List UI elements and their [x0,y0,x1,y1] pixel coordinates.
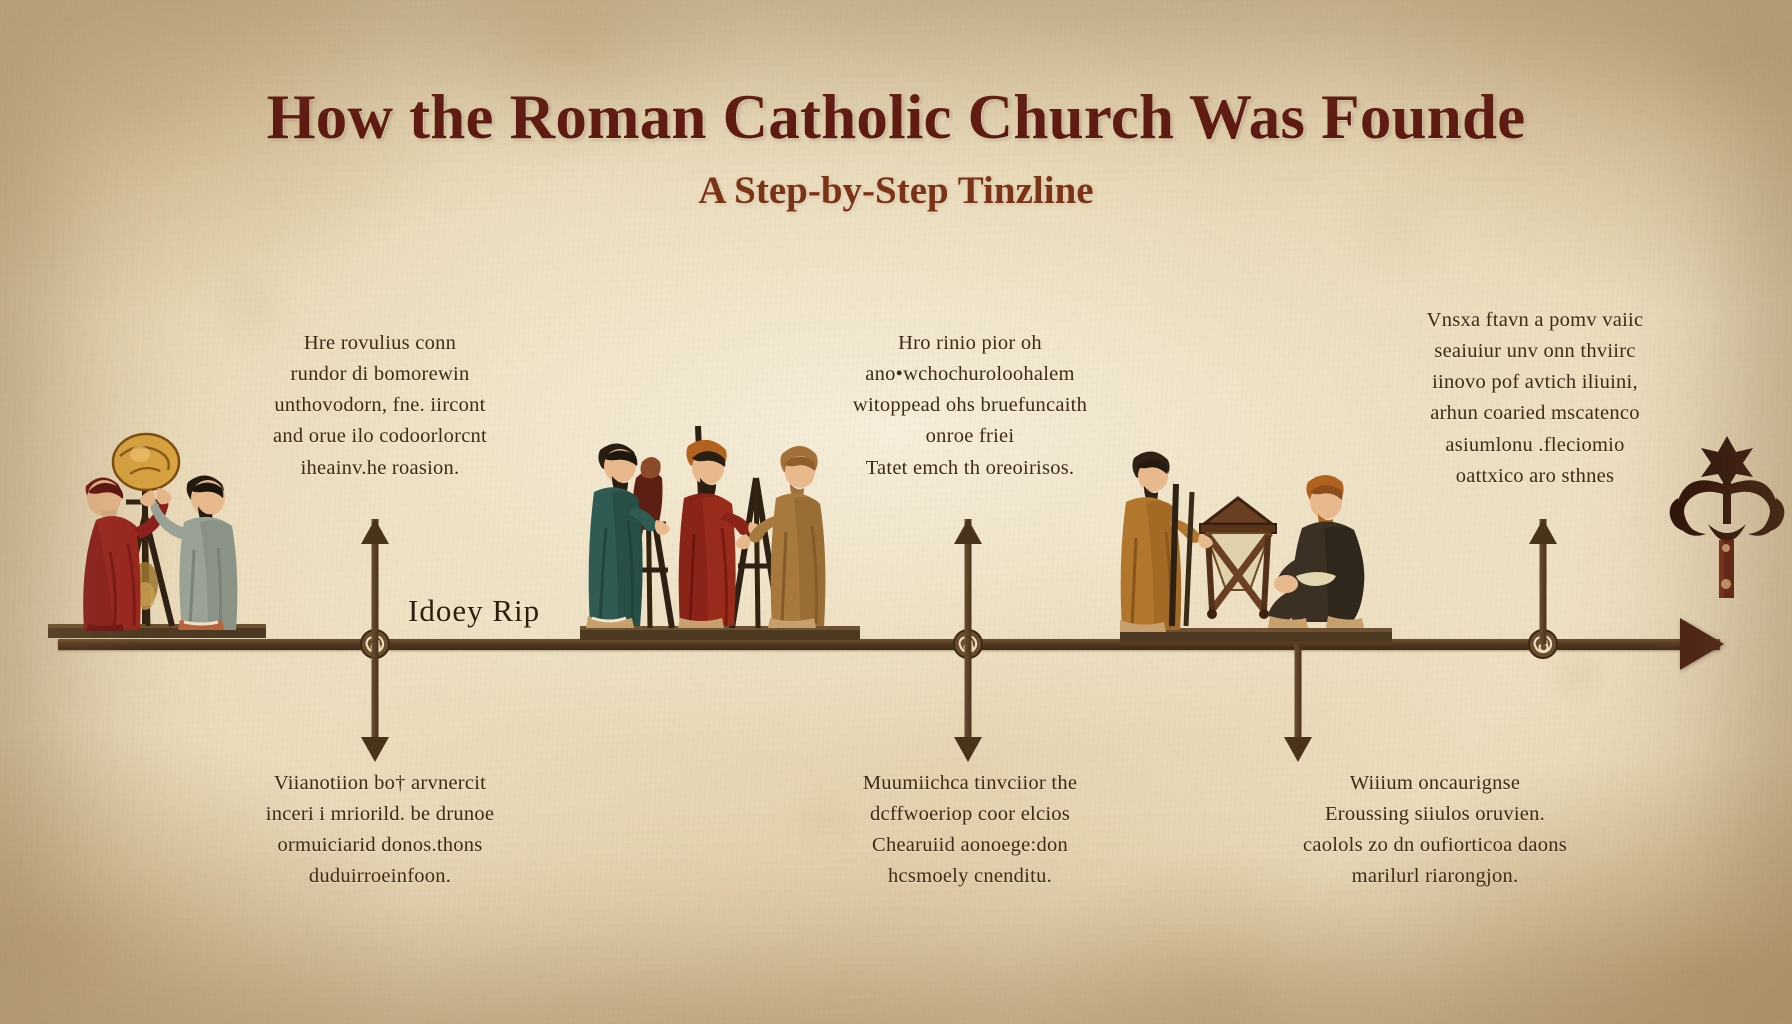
text-line: Chearuiid aonoege:don [815,830,1125,861]
text-line: Vnsxa ftavn a pomv vaiic [1385,305,1685,336]
figure-seated-dark-robe [1268,475,1364,628]
infographic-canvas: How the Roman Catholic Church Was Founde… [0,0,1792,1024]
text-line: Hre rovulius conn [230,328,530,359]
illustration-scene-right [1120,440,1400,652]
text-line: rundor di bomorewin [230,359,530,390]
connector-stem-down-1 [372,644,379,749]
connector-arrow-up-1-icon [361,519,389,544]
text-line: unthovodorn, fne. iircont [230,390,530,421]
timeline-axis-caption: Idoey Rip [408,593,540,629]
timeline-text-below-3: Wiiium oncaurignse Eroussing siiulos oru… [1270,768,1600,893]
text-line: Eroussing siiulos oruvien. [1270,799,1600,830]
folding-table-icon [1200,498,1276,619]
text-line: ano•wchochuroloohalem [820,359,1120,390]
page-title: How the Roman Catholic Church Was Founde [0,86,1792,149]
text-line: iinovo pof avtich iliuini, [1385,367,1685,398]
three-figures-at-easels-illustration [580,420,870,650]
timeline-axis [58,639,1720,650]
text-line: dcffwoeriop coor elcios [815,799,1125,830]
text-line: Wiiium oncaurignse [1270,768,1600,799]
connector-arrow-up-2-icon [954,519,982,544]
connector-stem-down-3 [1295,644,1302,749]
staff-icon [1172,484,1176,626]
text-line: hcsmoely cnenditu. [815,861,1125,892]
text-line: marilurl riarongjon. [1270,861,1600,892]
text-line: witoppead ohs bruefuncaith [820,390,1120,421]
page-subtitle: A Step-by-Step Tinzline [0,168,1792,213]
text-line: ormuiciarid donos.thons [225,830,535,861]
connector-arrow-down-3-icon [1284,737,1312,762]
figure-tan-tunic [736,446,825,628]
text-line: Muumiichca tinvciior the [815,768,1125,799]
timeline-text-above-3: Vnsxa ftavn a pomv vaiic seaiuiur unv on… [1385,305,1685,492]
staff-icon [1186,492,1192,626]
illustration-scene-left [48,424,278,650]
text-line: seaiuiur unv onn thviirc [1385,336,1685,367]
text-line: Hro rinio pior oh [820,328,1120,359]
timeline-text-below-1: Viianotiion bo† arvnercit inceri i mrior… [225,768,535,893]
text-line: caolols zo dn oufiorticoa daons [1270,830,1600,861]
illustration-scene-middle [580,420,870,650]
connector-stem-down-2 [965,644,972,749]
figure-ochre-robe [1120,451,1213,632]
timeline-arrowhead-icon [1680,618,1724,670]
end-finial [1668,432,1786,617]
text-line: Viianotiion bo† arvnercit [225,768,535,799]
connector-arrow-down-1-icon [361,737,389,762]
timeline-text-below-2: Muumiichca tinvciior the dcffwoeriop coo… [815,768,1125,893]
text-line: oattxico aro sthnes [1385,461,1685,492]
connector-arrow-up-3-icon [1529,519,1557,544]
text-line: arhun coaried mscatenco [1385,398,1685,429]
text-line: inceri i mriorild. be drunoe [225,799,535,830]
scribe-and-table-illustration [1120,440,1400,652]
connector-arrow-down-2-icon [954,737,982,762]
text-line: duduirroeinfoon. [225,861,535,892]
text-line: asiumlonu .fleciomio [1385,430,1685,461]
golden-orb-icon [113,434,179,490]
heading-group: How the Roman Catholic Church Was Founde… [0,86,1792,213]
two-figures-with-globe-illustration [48,424,278,650]
ornate-fleur-cross-finial-icon [1668,432,1786,612]
